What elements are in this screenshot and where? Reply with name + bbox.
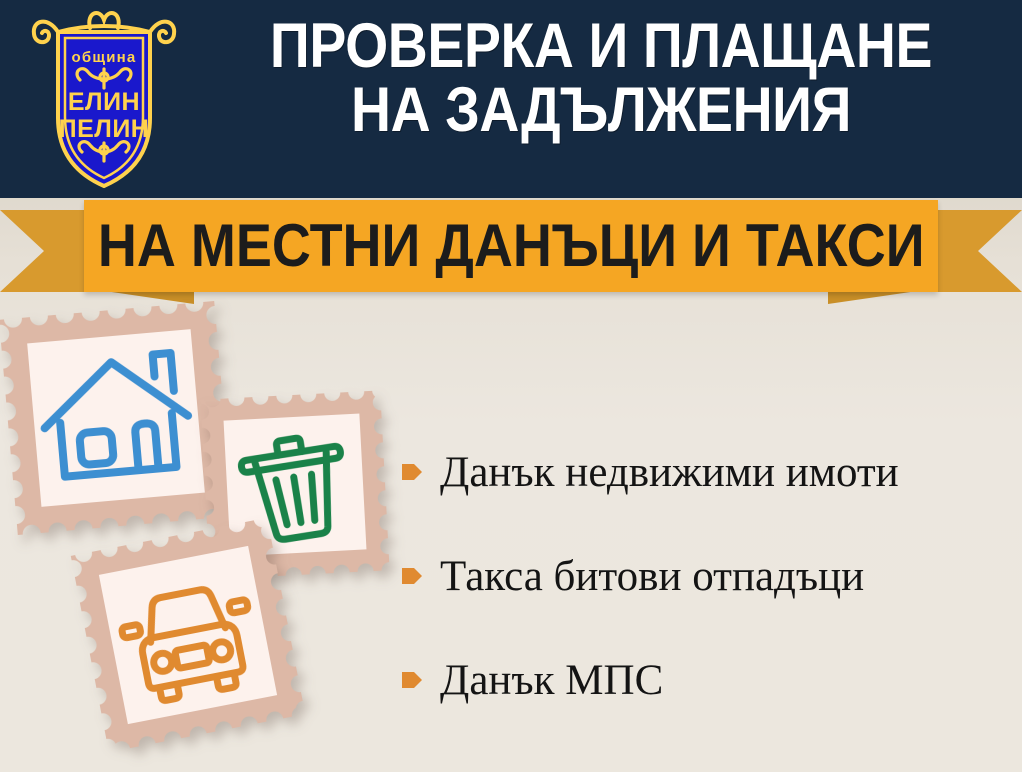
municipality-logo: община ЕЛИН ПЕЛИН (28, 6, 180, 192)
svg-text:община: община (72, 49, 137, 66)
stamp-card-house (0, 301, 233, 535)
svg-text:ПЕЛИН: ПЕЛИН (59, 115, 150, 143)
list-item[interactable]: Данък МПС (400, 628, 1010, 732)
page-title: ПРОВЕРКА И ПЛАЩАНЕ НА ЗАДЪЛЖЕНИЯ (231, 14, 972, 143)
stamp-card-group (0, 300, 420, 772)
arrow-bullet-icon (400, 563, 426, 589)
list-item[interactable]: Данък недвижими имоти (400, 420, 1010, 524)
ribbon-band: НА МЕСТНИ ДАНЪЦИ И ТАКСИ (84, 200, 938, 292)
poster-canvas: община ЕЛИН ПЕЛИН (0, 0, 1022, 772)
page-title-line-1: ПРОВЕРКА И ПЛАЩАНЕ (270, 11, 932, 81)
list-item-label: Такса битови отпадъци (440, 555, 864, 598)
list-item-label: Данък МПС (440, 659, 663, 702)
list-item-label: Данък недвижими имоти (440, 451, 899, 494)
list-item[interactable]: Такса битови отпадъци (400, 524, 1010, 628)
arrow-bullet-icon (400, 459, 426, 485)
svg-text:ЕЛИН: ЕЛИН (68, 88, 140, 116)
arrow-bullet-icon (400, 667, 426, 693)
stamp-card-car (71, 518, 305, 752)
header-banner: община ЕЛИН ПЕЛИН (0, 0, 1022, 198)
subtitle-ribbon: НА МЕСТНИ ДАНЪЦИ И ТАКСИ (0, 196, 1022, 306)
tax-type-list: Данък недвижими имоти Такса битови отпад… (400, 420, 1010, 732)
ribbon-label: НА МЕСТНИ ДАНЪЦИ И ТАКСИ (98, 216, 925, 276)
page-title-line-2: НА ЗАДЪЛЖЕНИЯ (231, 78, 972, 142)
